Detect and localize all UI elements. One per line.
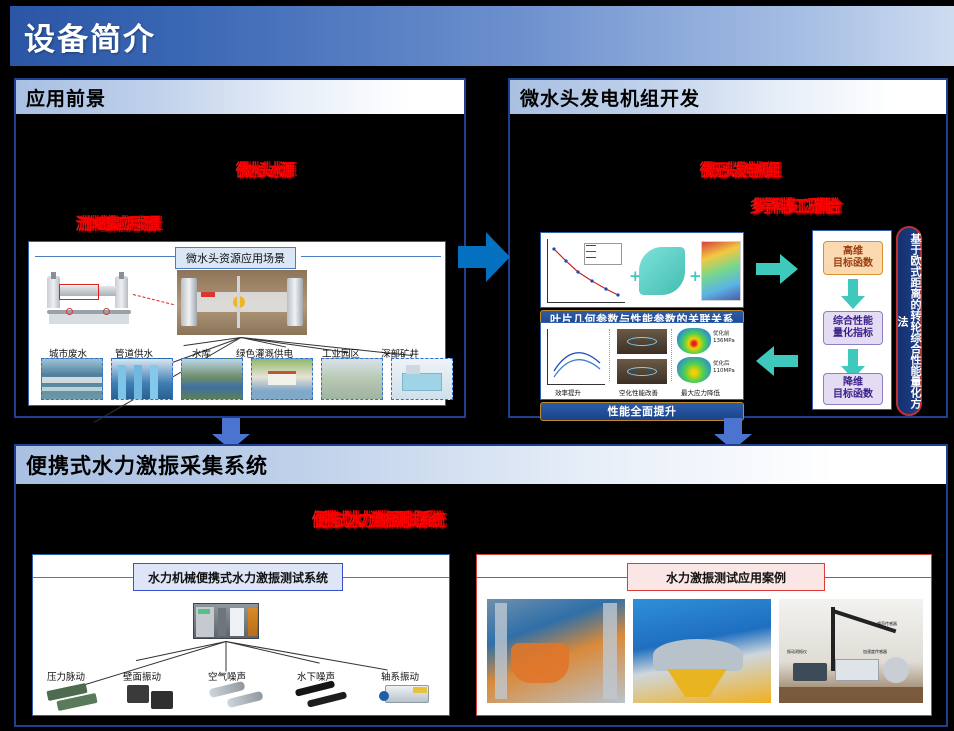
sensor-accelerometer-icon	[127, 685, 177, 709]
generator-top-card: + +	[540, 232, 744, 308]
contour-stress-after	[677, 357, 711, 383]
thumbnail-deep-mine	[391, 358, 453, 400]
card-rule-left	[33, 577, 133, 578]
flow-box-line: 目标函数	[833, 258, 873, 270]
efficiency-curve-svg	[548, 329, 606, 385]
photo-turbine-hall	[487, 599, 625, 703]
connector-line	[136, 641, 226, 661]
slide-title-bar: 设备简介	[10, 6, 954, 66]
connector-line	[226, 642, 227, 672]
card-rule-right	[301, 256, 441, 257]
vibration-right-card: 水力激振测试应用案例 噪声传感器 振动测振仪 加速度传感器	[476, 554, 932, 716]
flow-box-line: 综合性能	[833, 316, 873, 328]
teal-arrow-left-icon	[756, 346, 798, 376]
ghost-label-portable-test-system: 便携式水力激振测试系统	[314, 506, 443, 532]
flow-box-line: 目标函数	[833, 389, 873, 401]
generator-bottom-card: 优化前 136MPa 优化后 110MPa 效率提升 空化性能改善 最大应力降低	[540, 322, 744, 400]
photo-annotation-vibrometer: 振动测振仪	[787, 649, 807, 655]
ghost-label-generator-set: 微无头发电机组	[702, 156, 778, 181]
panel-application-prospect: 应用前景 微水头水源 流体密集应用场景 微水头资源应用场景	[14, 78, 466, 418]
divider	[609, 329, 610, 381]
card-rule-left	[477, 577, 627, 578]
flow-box-line: 降维	[843, 377, 863, 389]
thumbnail-green-irrigation	[251, 358, 313, 400]
panel-generator-header: 微水头发电机组开发	[510, 80, 946, 114]
panel-generator-body: 微无头发电机组 多学科多工况耦合 + +	[510, 114, 946, 416]
flow-box-reduced-dimension: 降维 目标函数	[823, 373, 883, 405]
sensor-pressure-icon	[47, 683, 101, 709]
sub-label-efficiency: 效率提升	[555, 387, 581, 397]
application-scene-card: 微水头资源应用场景	[28, 241, 446, 406]
panel-generator-development: 微水头发电机组开发 微无头发电机组 多学科多工况耦合 +	[508, 78, 948, 418]
sensor-label-wall-vibration: 壁面振动	[123, 669, 161, 683]
stress-label-before: 优化前 136MPa	[713, 331, 743, 345]
blade-mesh-graphic	[639, 247, 685, 295]
thumbnail-industrial-park	[321, 358, 383, 400]
flow-box-high-dimension: 高维 目标函数	[823, 241, 883, 275]
panel-vibration-header: 便携式水力激振采集系统	[16, 446, 946, 484]
flow-box-performance-index: 综合性能 量化指标	[823, 311, 883, 345]
vibration-left-card: 水力机械便携式水力激振测试系统 压力脉动 壁面振动 空气噪声 水下噪声 轴系振动	[32, 554, 450, 716]
panel-application-header: 应用前景	[16, 80, 464, 114]
photo-test-rig: 噪声传感器 振动测振仪 加速度传感器	[779, 599, 923, 703]
photo-pipeline-equipment	[41, 270, 146, 328]
thumbnail-urban-wastewater	[41, 358, 103, 400]
arrow-down-icon	[840, 279, 866, 309]
photo-runner-closeup	[633, 599, 771, 703]
page-title: 设备简介	[24, 14, 156, 59]
flow-box-line: 量化指标	[833, 328, 873, 340]
ghost-label-water-source: 微水头水源	[238, 156, 293, 181]
daq-device-graphic	[193, 603, 259, 639]
stress-label-after: 优化后 110MPa	[713, 361, 743, 375]
panel-vibration-body: 便携式水力激振测试系统 水力机械便携式水力激振测试系统 压力脉动 壁面振动	[16, 484, 946, 725]
vibration-left-box-title: 水力机械便携式水力激振测试系统	[133, 563, 343, 591]
arrow-right-icon	[458, 232, 510, 282]
thumbnail-pipeline-supply	[111, 358, 173, 400]
panel-vibration-title: 便携式水力激振采集系统	[26, 450, 268, 480]
card-rule-right	[825, 577, 931, 578]
chart-blade-parameter-curve	[547, 239, 625, 303]
photo-annotation-noise: 噪声传感器	[877, 621, 897, 627]
sensor-shaft-vibration-icon	[379, 683, 435, 709]
generator-method-banner: 基于欧式距离的转轮综合性能量化方法	[896, 226, 922, 416]
photo-cavitation-after	[617, 359, 667, 384]
generator-flow-card: 高维 目标函数 综合性能 量化指标 降维 目标函数	[812, 230, 892, 410]
ghost-label-multidisciplinary: 多学科多工况耦合	[752, 192, 839, 217]
flow-box-line: 高维	[843, 246, 863, 258]
panel-vibration-acquisition: 便携式水力激振采集系统 便携式水力激振测试系统 水力机械便携式水力激振测试系统	[14, 444, 948, 727]
teal-arrow-right-icon	[756, 254, 798, 284]
sensor-label-shaft-vibration: 轴系振动	[381, 669, 419, 683]
panel-application-body: 微水头水源 流体密集应用场景 微水头资源应用场景	[16, 114, 464, 416]
cfd-result-graphic	[701, 241, 741, 301]
ghost-label-fluid-scene: 流体密集应用场景	[78, 210, 159, 234]
card-rule-right	[343, 577, 449, 578]
sensor-microphone-icon	[209, 683, 269, 709]
application-card-title: 微水头资源应用场景	[175, 247, 296, 269]
photo-annotation-accelerometer: 加速度传感器	[863, 649, 887, 655]
photo-cavitation-before	[617, 329, 667, 354]
vibration-right-box-title: 水力激振测试应用案例	[627, 563, 825, 591]
contour-stress-before	[677, 328, 711, 354]
divider	[671, 329, 672, 381]
sub-label-cavitation: 空化性能改善	[619, 387, 658, 397]
chart-efficiency-improvement	[547, 329, 605, 385]
connector-line	[226, 641, 388, 670]
plus-icon: +	[689, 267, 702, 285]
sub-label-stress: 最大应力降低	[681, 387, 720, 397]
sensor-hydrophone-icon	[295, 683, 353, 709]
sensor-label-pressure-pulsation: 压力脉动	[47, 669, 85, 683]
card-rule-left	[35, 256, 175, 257]
photo-turbine-closeup	[177, 270, 307, 335]
thumbnail-reservoir	[181, 358, 243, 400]
panel-generator-title: 微水头发电机组开发	[520, 84, 700, 111]
panel-application-title: 应用前景	[26, 84, 106, 111]
generator-method-label: 基于欧式距离的转轮综合性能量化方法	[896, 228, 922, 414]
